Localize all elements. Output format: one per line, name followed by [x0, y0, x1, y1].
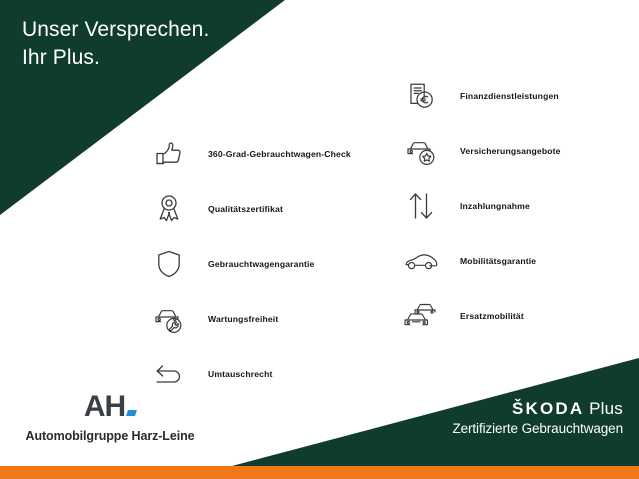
- feature-label: 360-Grad-Gebrauchtwagen-Check: [208, 149, 351, 159]
- brand-logo: ŠKODA Plus Zertifizierte Gebrauchtwagen: [452, 400, 623, 436]
- car-star-icon: [398, 128, 444, 174]
- feature-label: Mobilitätsgarantie: [460, 256, 536, 266]
- dealer-logo-accent-dot: [126, 410, 137, 416]
- feature-label: Ersatzmobilität: [460, 311, 524, 321]
- feature-label: Inzahlungnahme: [460, 201, 530, 211]
- brand-plus-label: Plus: [589, 399, 623, 418]
- return-arrow-icon: [146, 351, 192, 397]
- thumbs-up-icon: [146, 131, 192, 177]
- feature-item: Mobilitätsgarantie: [398, 233, 561, 288]
- dealer-logo-name: Automobilgruppe Harz-Leine: [15, 429, 205, 443]
- document-euro-icon: [398, 73, 444, 119]
- feature-label: Gebrauchtwagengarantie: [208, 259, 314, 269]
- brand-name: ŠKODA: [512, 399, 584, 418]
- feature-item: Qualitätszertifikat: [146, 181, 351, 236]
- headline-line-2: Ihr Plus.: [22, 44, 209, 72]
- dealer-logo: AH Automobilgruppe Harz-Leine: [15, 392, 205, 443]
- two-cars-icon: [398, 293, 444, 339]
- feature-item: Inzahlungnahme: [398, 178, 561, 233]
- dealer-logo-mark: AH: [84, 392, 136, 422]
- feature-label: Qualitätszertifikat: [208, 204, 283, 214]
- feature-item: Finanzdienstleistungen: [398, 68, 561, 123]
- car-side-icon: [398, 238, 444, 284]
- shield-icon: [146, 241, 192, 287]
- award-rosette-icon: [146, 186, 192, 232]
- feature-item: Gebrauchtwagengarantie: [146, 236, 351, 291]
- feature-item: 360-Grad-Gebrauchtwagen-Check: [146, 126, 351, 181]
- feature-label: Versicherungsangebote: [460, 146, 561, 156]
- feature-label: Wartungsfreiheit: [208, 314, 278, 324]
- car-wrench-icon: [146, 296, 192, 342]
- brand-subtitle: Zertifizierte Gebrauchtwagen: [452, 421, 623, 436]
- feature-item: Ersatzmobilität: [398, 288, 561, 343]
- feature-list-right: Finanzdienstleistungen Versicherungsange…: [398, 68, 561, 343]
- feature-item: Versicherungsangebote: [398, 123, 561, 178]
- dealer-logo-initials: AH: [84, 390, 125, 423]
- headline: Unser Versprechen. Ihr Plus.: [22, 16, 209, 72]
- feature-label: Umtauschrecht: [208, 369, 273, 379]
- brand-logo-title: ŠKODA Plus: [452, 400, 623, 419]
- feature-list-left: 360-Grad-Gebrauchtwagen-Check Qualitätsz…: [146, 126, 351, 401]
- promo-banner: Unser Versprechen. Ihr Plus. 360-Grad-Ge…: [0, 0, 639, 479]
- feature-item: Wartungsfreiheit: [146, 291, 351, 346]
- up-down-arrows-icon: [398, 183, 444, 229]
- orange-footer-bar: [0, 466, 639, 479]
- feature-label: Finanzdienstleistungen: [460, 91, 559, 101]
- headline-line-1: Unser Versprechen.: [22, 16, 209, 44]
